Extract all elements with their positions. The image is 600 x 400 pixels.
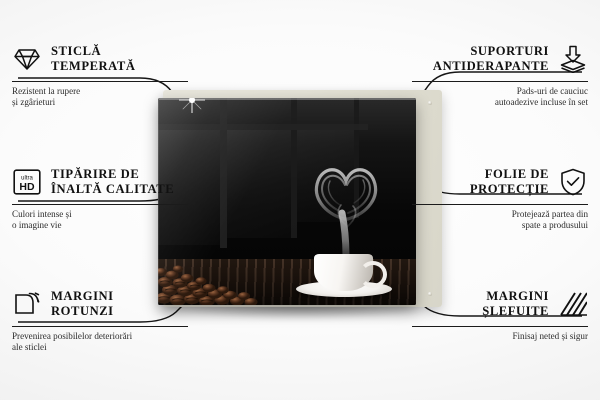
feature-divider [412,204,588,205]
feature-header: STICLĂ TEMPERATĂ [12,40,188,78]
feature-divider [412,326,588,327]
diagonal-lines-icon [558,289,588,319]
feature-subtitle: Rezistent la rupere și zgârieturi [12,86,188,109]
feature-polished-edges: MARGINI ȘLEFUITE Finisaj neted și sigur [412,285,588,342]
svg-text:HD: HD [19,181,35,193]
heart-steam [294,149,398,261]
feature-subtitle: Finisaj neted și sigur [412,331,588,342]
feature-header: MARGINI ȘLEFUITE [412,285,588,323]
feature-protect-film: FOLIE DE PROTECȚIE Protejează partea din… [412,163,588,232]
feature-anti-slip: SUPORTURI ANTIDERAPANTE Pads-uri de cauc… [412,40,588,109]
feature-round-edges: MARGINI ROTUNZI Prevenirea posibilelor d… [12,285,188,354]
feature-subtitle: Protejează partea din spate a produsului [412,209,588,232]
feature-divider [12,81,188,82]
feature-tempered-glass: STICLĂ TEMPERATĂ Rezistent la rupere și … [12,40,188,109]
product-infographic: STICLĂ TEMPERATĂ Rezistent la rupere și … [0,0,600,400]
window-mullion [220,98,227,248]
feature-header: ultra HD TIPĂRIRE DE ÎNALTĂ CALITATE [12,163,188,201]
printed-glass-panel [158,98,416,305]
feature-title: MARGINI ȘLEFUITE [482,289,549,318]
product-image [158,90,442,312]
feature-subtitle: Culori intense și o imagine vie [12,209,188,232]
feature-header: SUPORTURI ANTIDERAPANTE [412,40,588,78]
diamond-icon [12,44,42,74]
feature-title: SUPORTURI ANTIDERAPANTE [433,44,549,73]
ultra-hd-icon: ultra HD [12,167,42,197]
feature-title: MARGINI ROTUNZI [51,289,114,318]
feature-divider [412,81,588,82]
window-mullion [158,124,368,130]
coffee-cup [314,254,373,291]
feature-subtitle: Prevenirea posibilelor deteriorări ale s… [12,331,188,354]
shield-check-icon [558,167,588,197]
feature-hd-print: ultra HD TIPĂRIRE DE ÎNALTĂ CALITATE Cul… [12,163,188,232]
feature-title: FOLIE DE PROTECȚIE [470,167,549,196]
window-pane [227,130,291,238]
rounded-corner-icon [12,289,42,319]
feature-title: TIPĂRIRE DE ÎNALTĂ CALITATE [51,167,174,196]
pad-down-arrow-icon [558,44,588,74]
feature-divider [12,326,188,327]
feature-divider [12,204,188,205]
feature-header: MARGINI ROTUNZI [12,285,188,323]
feature-subtitle: Pads-uri de cauciuc autoadezive incluse … [412,86,588,109]
feature-title: STICLĂ TEMPERATĂ [51,44,135,73]
feature-header: FOLIE DE PROTECȚIE [412,163,588,201]
